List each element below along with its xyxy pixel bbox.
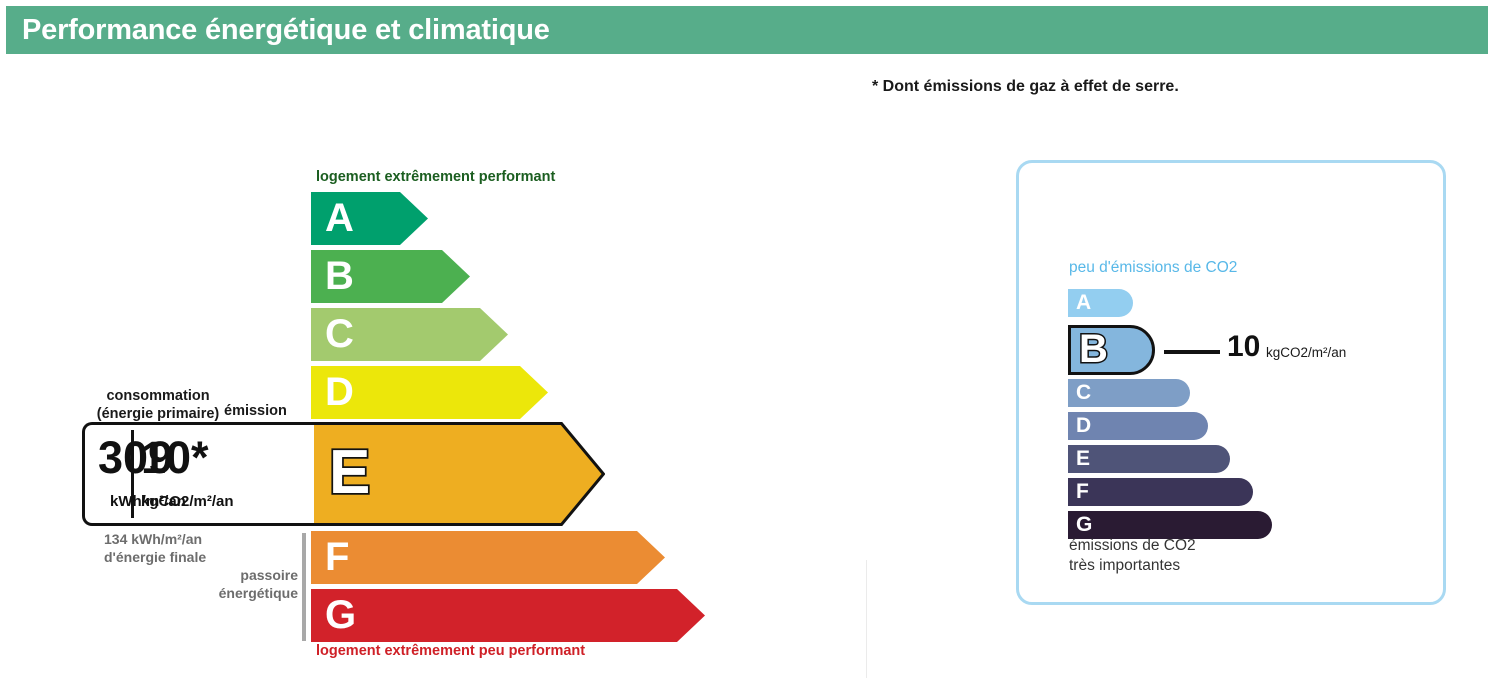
energy-class-a: A (311, 192, 428, 245)
co2-class-letter-g: G (1076, 514, 1092, 535)
co2-caption-high: émissions de CO2 très importantes (1069, 536, 1196, 577)
co2-class-letter-b: B (1079, 329, 1108, 369)
emission-unit: kgCO2/m²/an (141, 494, 234, 509)
energy-arrow-shape-a (311, 192, 428, 245)
co2-class-f: F (1068, 478, 1253, 506)
co2-class-letter-e: E (1076, 448, 1090, 469)
final-energy-line2: d'énergie finale (104, 549, 206, 567)
energy-arrow-shape-e (311, 422, 605, 526)
energy-caption-best: logement extrêmement performant (316, 169, 555, 185)
co2-class-letter-c: C (1076, 382, 1091, 403)
energy-class-e: E (311, 422, 605, 526)
co2-class-c: C (1068, 379, 1190, 407)
energy-class-f: F (311, 531, 665, 584)
energy-class-b: B (311, 250, 470, 303)
dpe-energy-label-page: Performance énergétique et climatique * … (0, 0, 1494, 682)
co2-class-g: G (1068, 511, 1272, 539)
energy-sieve-note: passoire énergétique (150, 567, 298, 602)
consumption-label-line1: consommation (86, 388, 230, 406)
co2-class-b: B (1068, 325, 1155, 375)
energy-arrow-shape-c (311, 308, 508, 361)
energy-class-d: D (311, 366, 548, 419)
energy-arrow-shape-d (311, 366, 548, 419)
energy-performance-chart: logement extrêmement performant ABCDEFG … (0, 0, 866, 682)
co2-value: 10 (1227, 332, 1260, 362)
energy-arrow-shape-g (311, 589, 705, 642)
co2-class-letter-d: D (1076, 415, 1091, 436)
co2-class-a: A (1068, 289, 1133, 317)
co2-class-d: D (1068, 412, 1208, 440)
consumption-label: consommation (énergie primaire) (86, 388, 230, 423)
co2-caption-low: peu d'émissions de CO2 (1069, 259, 1237, 277)
emission-value: 10* (141, 435, 209, 480)
co2-class-e: E (1068, 445, 1230, 473)
energy-arrow-shape-f (311, 531, 665, 584)
co2-class-letter-f: F (1076, 481, 1089, 502)
co2-class-letter-a: A (1076, 292, 1091, 313)
final-energy-line1: 134 kWh/m²/an (104, 531, 206, 549)
energy-arrow-shape-b (311, 250, 470, 303)
co2-unit: kgCO2/m²/an (1266, 345, 1346, 360)
emission-label: émission (224, 403, 287, 419)
consumption-label-line2: (énergie primaire) (86, 406, 230, 424)
panel-divider (866, 560, 867, 678)
energy-caption-worst: logement extrêmement peu performant (316, 643, 585, 659)
final-energy-note: 134 kWh/m²/an d'énergie finale (104, 531, 206, 566)
energy-sieve-bracket (302, 533, 306, 641)
co2-caption-high-line1: émissions de CO2 (1069, 536, 1196, 556)
greenhouse-gas-footnote: * Dont émissions de gaz à effet de serre… (872, 78, 1179, 96)
co2-caption-high-line2: très importantes (1069, 556, 1196, 576)
co2-leader-line (1164, 350, 1220, 354)
energy-sieve-line2: énergétique (150, 585, 298, 603)
energy-class-c: C (311, 308, 508, 361)
energy-sieve-line1: passoire (150, 567, 298, 585)
energy-class-g: G (311, 589, 705, 642)
